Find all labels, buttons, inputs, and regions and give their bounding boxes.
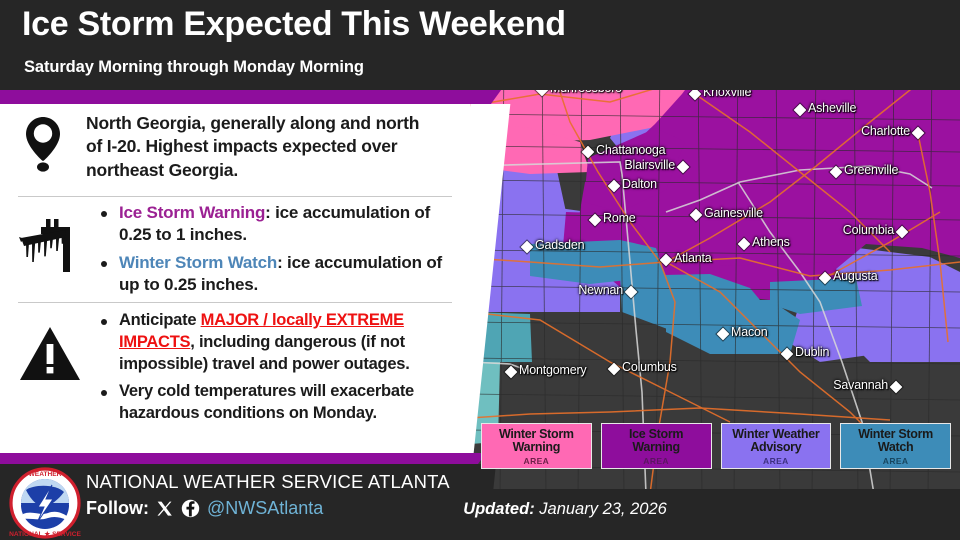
city-label: Gadsden bbox=[535, 238, 584, 252]
kw-ice-storm-warning: Ice Storm Warning bbox=[119, 203, 265, 222]
legend-area-label: AREA bbox=[524, 456, 550, 466]
agency-name: NATIONAL WEATHER SERVICE ATLANTA bbox=[86, 471, 450, 493]
svg-text:WEATHER: WEATHER bbox=[29, 471, 62, 478]
impact-pre: Anticipate bbox=[119, 311, 201, 329]
city-label: Charlotte bbox=[861, 124, 910, 138]
legend-area-label: AREA bbox=[763, 456, 789, 466]
weather-graphic: Ice Storm Expected This Weekend Saturday… bbox=[0, 0, 960, 540]
city-label: Blairsville bbox=[624, 158, 675, 172]
map-legend: Winter StormWarningAREAIce StormWarningA… bbox=[481, 423, 951, 469]
panel-row-impacts: Anticipate MAJOR / locally EXTREME IMPAC… bbox=[0, 310, 470, 425]
city-label: Atlanta bbox=[674, 251, 712, 265]
iced-power-line-icon bbox=[0, 202, 100, 274]
warning-triangle-icon bbox=[0, 310, 100, 382]
kw-winter-storm-watch: Winter Storm Watch bbox=[119, 253, 277, 272]
city-label: Athens bbox=[752, 235, 790, 249]
legend-item-ice-storm-warning[interactable]: Ice StormWarningAREA bbox=[601, 423, 712, 469]
legend-label: Ice StormWarning bbox=[629, 428, 683, 455]
legend-label: Winter StormWarning bbox=[499, 428, 574, 455]
updated-label: Updated: bbox=[463, 500, 535, 518]
city-label: Rome bbox=[603, 211, 636, 225]
city-label: Columbus bbox=[622, 360, 677, 374]
city-label: Augusta bbox=[833, 269, 877, 283]
city-label: Columbia bbox=[843, 223, 894, 237]
svg-text:NATIONAL ★ SERVICE: NATIONAL ★ SERVICE bbox=[9, 530, 81, 538]
legend-label: Winter WeatherAdvisory bbox=[732, 428, 819, 455]
legend-area-label: AREA bbox=[883, 456, 909, 466]
updated-date: January 23, 2026 bbox=[539, 500, 667, 518]
legend-item-winter-storm-warning[interactable]: Winter StormWarningAREA bbox=[481, 423, 592, 469]
page-title: Ice Storm Expected This Weekend bbox=[22, 5, 566, 44]
panel-divider-1 bbox=[18, 196, 452, 197]
location-text: North Georgia, generally along and north… bbox=[86, 112, 436, 182]
legend-item-winter-storm-watch[interactable]: Winter StormWatchAREA bbox=[840, 423, 951, 469]
city-label: Savannah bbox=[833, 378, 888, 392]
city-label: Asheville bbox=[808, 101, 856, 115]
bullet-major-impacts: Anticipate MAJOR / locally EXTREME IMPAC… bbox=[100, 310, 460, 375]
header: Ice Storm Expected This Weekend Saturday… bbox=[0, 0, 960, 90]
info-panel: North Georgia, generally along and north… bbox=[0, 104, 470, 453]
city-label: Greenville bbox=[844, 163, 898, 177]
city-label: Macon bbox=[731, 325, 768, 339]
legend-area-label: AREA bbox=[643, 456, 669, 466]
city-label: Gainesville bbox=[704, 206, 763, 220]
panel-row-location: North Georgia, generally along and north… bbox=[0, 112, 470, 182]
city-label: Chattanooga bbox=[596, 143, 665, 157]
bullet-winter-storm-watch: Winter Storm Watch: ice accumulation of … bbox=[100, 252, 460, 296]
city-label: Dalton bbox=[622, 177, 657, 191]
location-pin-icon bbox=[0, 112, 86, 172]
updated-stamp: Updated: January 23, 2026 bbox=[0, 500, 960, 519]
city-label: Newnan bbox=[578, 283, 623, 297]
bullet-ice-storm-warning: Ice Storm Warning: ice accumulation of 0… bbox=[100, 202, 460, 246]
city-label: Montgomery bbox=[519, 363, 586, 377]
header-accent-bar bbox=[0, 90, 478, 104]
legend-label: Winter StormWatch bbox=[858, 428, 933, 455]
city-label: Dublin bbox=[795, 345, 829, 359]
panel-divider-2 bbox=[18, 302, 452, 303]
legend-item-winter-weather-advisory[interactable]: Winter WeatherAdvisoryAREA bbox=[721, 423, 832, 469]
bullet-cold-temps: Very cold temperatures will exacerbate h… bbox=[100, 381, 460, 425]
page-subtitle: Saturday Morning through Monday Morning bbox=[24, 58, 364, 77]
impact-bullets: Anticipate MAJOR / locally EXTREME IMPAC… bbox=[100, 310, 460, 425]
panel-row-alerts: Ice Storm Warning: ice accumulation of 0… bbox=[0, 202, 470, 296]
panel-bottom-accent-bar bbox=[0, 453, 466, 464]
alert-bullets: Ice Storm Warning: ice accumulation of 0… bbox=[100, 202, 460, 296]
